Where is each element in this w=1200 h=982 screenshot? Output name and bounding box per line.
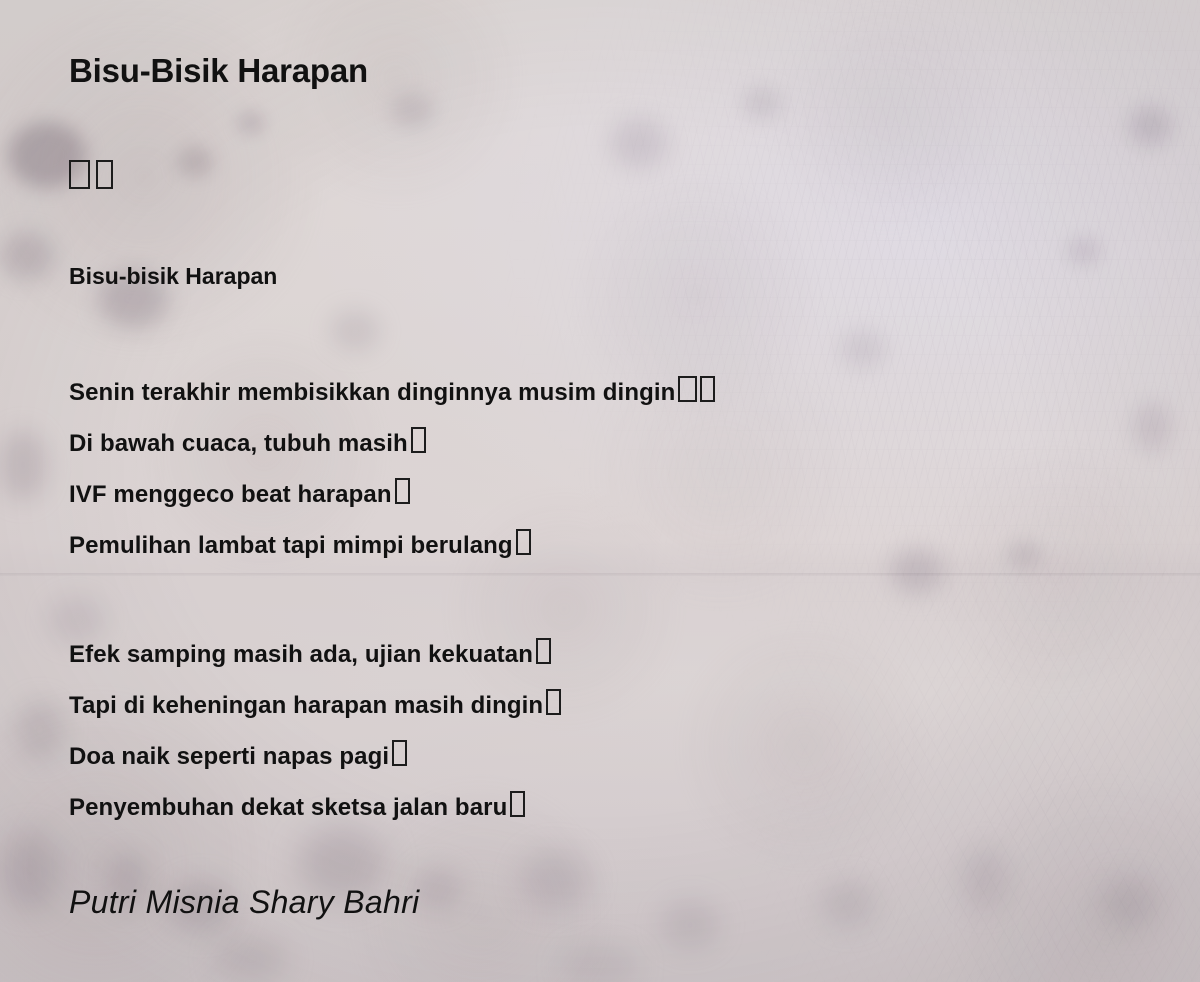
ink-blot: [820, 880, 876, 928]
missing-glyph-icon: [678, 376, 697, 402]
ink-blot: [176, 146, 214, 178]
ink-blot: [560, 946, 640, 982]
poem-line: IVF menggeco beat harapan: [69, 469, 1129, 520]
ink-blot: [0, 430, 46, 500]
poem-stanza-2: Efek samping masih ada, ujian kekuatanTa…: [69, 629, 1129, 833]
texture-tile-seam: [0, 573, 1200, 576]
missing-glyph-icon: [96, 160, 113, 189]
missing-glyph-icon: [392, 740, 407, 766]
header-emoji-placeholder: [69, 160, 119, 193]
ink-blot: [1100, 876, 1158, 928]
poem-line-text: Efek samping masih ada, ujian kekuatan: [69, 641, 533, 668]
poem-line: Doa naik seperti napas pagi: [69, 731, 1129, 782]
ink-blot: [520, 850, 590, 910]
poem-author: Putri Misnia Shary Bahri: [69, 884, 419, 921]
missing-glyph-icon: [510, 791, 525, 817]
poem-line-text: Pemulihan lambat tapi mimpi berulang: [69, 532, 513, 559]
poem-line-text: Penyembuhan dekat sketsa jalan baru: [69, 794, 507, 821]
poem-subtitle: Bisu-bisik Harapan: [69, 263, 277, 290]
ink-blot: [960, 846, 1008, 910]
ink-blot: [1066, 236, 1102, 266]
missing-glyph-icon: [536, 638, 551, 664]
ink-blot: [214, 936, 288, 982]
poem-line: Tapi di keheningan harapan masih dingin: [69, 680, 1129, 731]
poem-line-text: Tapi di keheningan harapan masih dingin: [69, 692, 543, 719]
poem-line: Efek samping masih ada, ujian kekuatan: [69, 629, 1129, 680]
poem-line: Di bawah cuaca, tubuh masih: [69, 418, 1129, 469]
poem-line-text: Senin terakhir membisikkan dinginnya mus…: [69, 379, 675, 406]
ink-blot: [16, 700, 64, 760]
ink-blot: [0, 232, 54, 280]
poem-line: Penyembuhan dekat sketsa jalan baru: [69, 782, 1129, 833]
missing-glyph-icon: [700, 376, 715, 402]
ink-blot: [840, 330, 886, 368]
poem-line-text: IVF menggeco beat harapan: [69, 481, 392, 508]
ink-blot: [0, 830, 60, 910]
poem-line-text: Di bawah cuaca, tubuh masih: [69, 430, 408, 457]
missing-glyph-icon: [395, 478, 410, 504]
poem-line: Pemulihan lambat tapi mimpi berulang: [69, 520, 1129, 571]
missing-glyph-icon: [516, 529, 531, 555]
poem-line: Senin terakhir membisikkan dinginnya mus…: [69, 367, 1129, 418]
poem-title: Bisu-Bisik Harapan: [69, 52, 368, 90]
poem-canvas: Bisu-Bisik Harapan Bisu-bisik Harapan Se…: [0, 0, 1200, 982]
ink-blot: [742, 86, 782, 120]
missing-glyph-icon: [69, 160, 90, 189]
ink-blot: [1128, 106, 1172, 146]
poem-stanza-1: Senin terakhir membisikkan dinginnya mus…: [69, 367, 1129, 571]
ink-blot: [390, 92, 434, 128]
ink-blot: [1132, 402, 1172, 452]
ink-blot: [330, 310, 380, 352]
ink-blot: [660, 900, 720, 950]
missing-glyph-icon: [411, 427, 426, 453]
poem-line-text: Doa naik seperti napas pagi: [69, 743, 389, 770]
missing-glyph-icon: [546, 689, 561, 715]
ink-blot: [610, 118, 668, 168]
ink-blot: [236, 110, 266, 136]
